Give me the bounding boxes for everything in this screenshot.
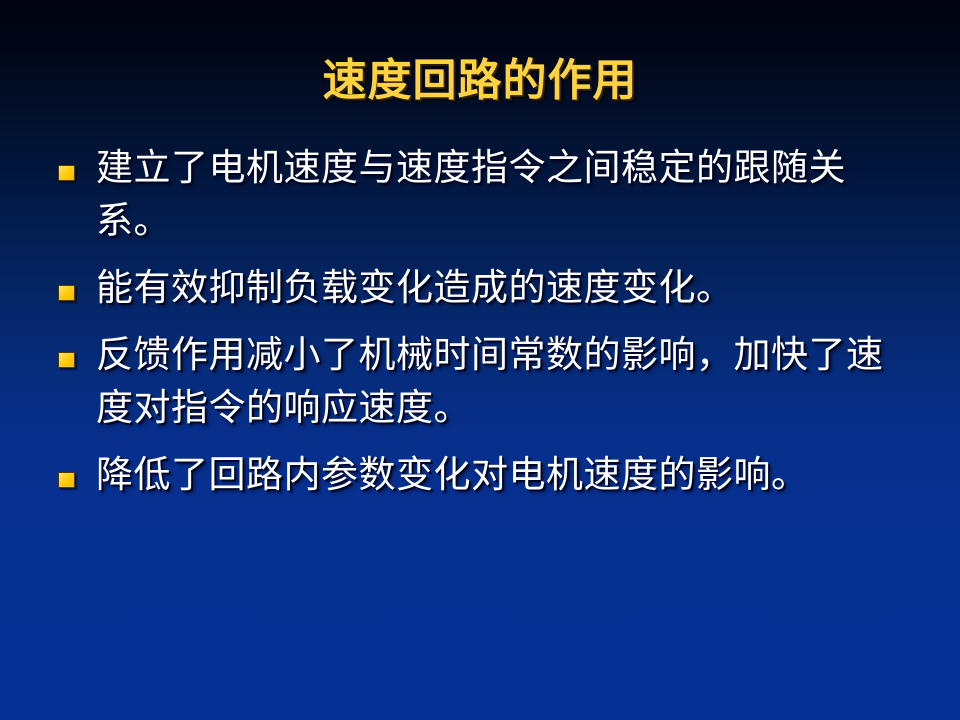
presentation-slide: 速度回路的作用 建立了电机速度与速度指令之间稳定的跟随关系。 能有效抑制负载变化… bbox=[0, 0, 960, 720]
slide-title-block: 速度回路的作用 bbox=[0, 54, 960, 108]
square-bullet-icon bbox=[58, 352, 75, 368]
list-item-label: 反馈作用减小了机械时间常数的影响，加快了速度对指令的响应速度。 bbox=[96, 329, 912, 435]
list-item-label: 建立了电机速度与速度指令之间稳定的跟随关系。 bbox=[96, 142, 912, 248]
list-item-label: 能有效抑制负载变化造成的速度变化。 bbox=[96, 262, 912, 315]
list-item-label: 降低了回路内参数变化对电机速度的影响。 bbox=[96, 449, 912, 502]
square-bullet-icon bbox=[58, 472, 75, 488]
list-item: 降低了回路内参数变化对电机速度的影响。 bbox=[52, 449, 912, 502]
list-item: 能有效抑制负载变化造成的速度变化。 bbox=[52, 262, 912, 315]
square-bullet-icon bbox=[58, 285, 75, 301]
list-item: 反馈作用减小了机械时间常数的影响，加快了速度对指令的响应速度。 bbox=[52, 329, 912, 435]
bullet-list: 建立了电机速度与速度指令之间稳定的跟随关系。 能有效抑制负载变化造成的速度变化。… bbox=[52, 142, 912, 516]
page-title: 速度回路的作用 bbox=[323, 54, 638, 108]
list-item: 建立了电机速度与速度指令之间稳定的跟随关系。 bbox=[52, 142, 912, 248]
square-bullet-icon bbox=[58, 165, 75, 181]
